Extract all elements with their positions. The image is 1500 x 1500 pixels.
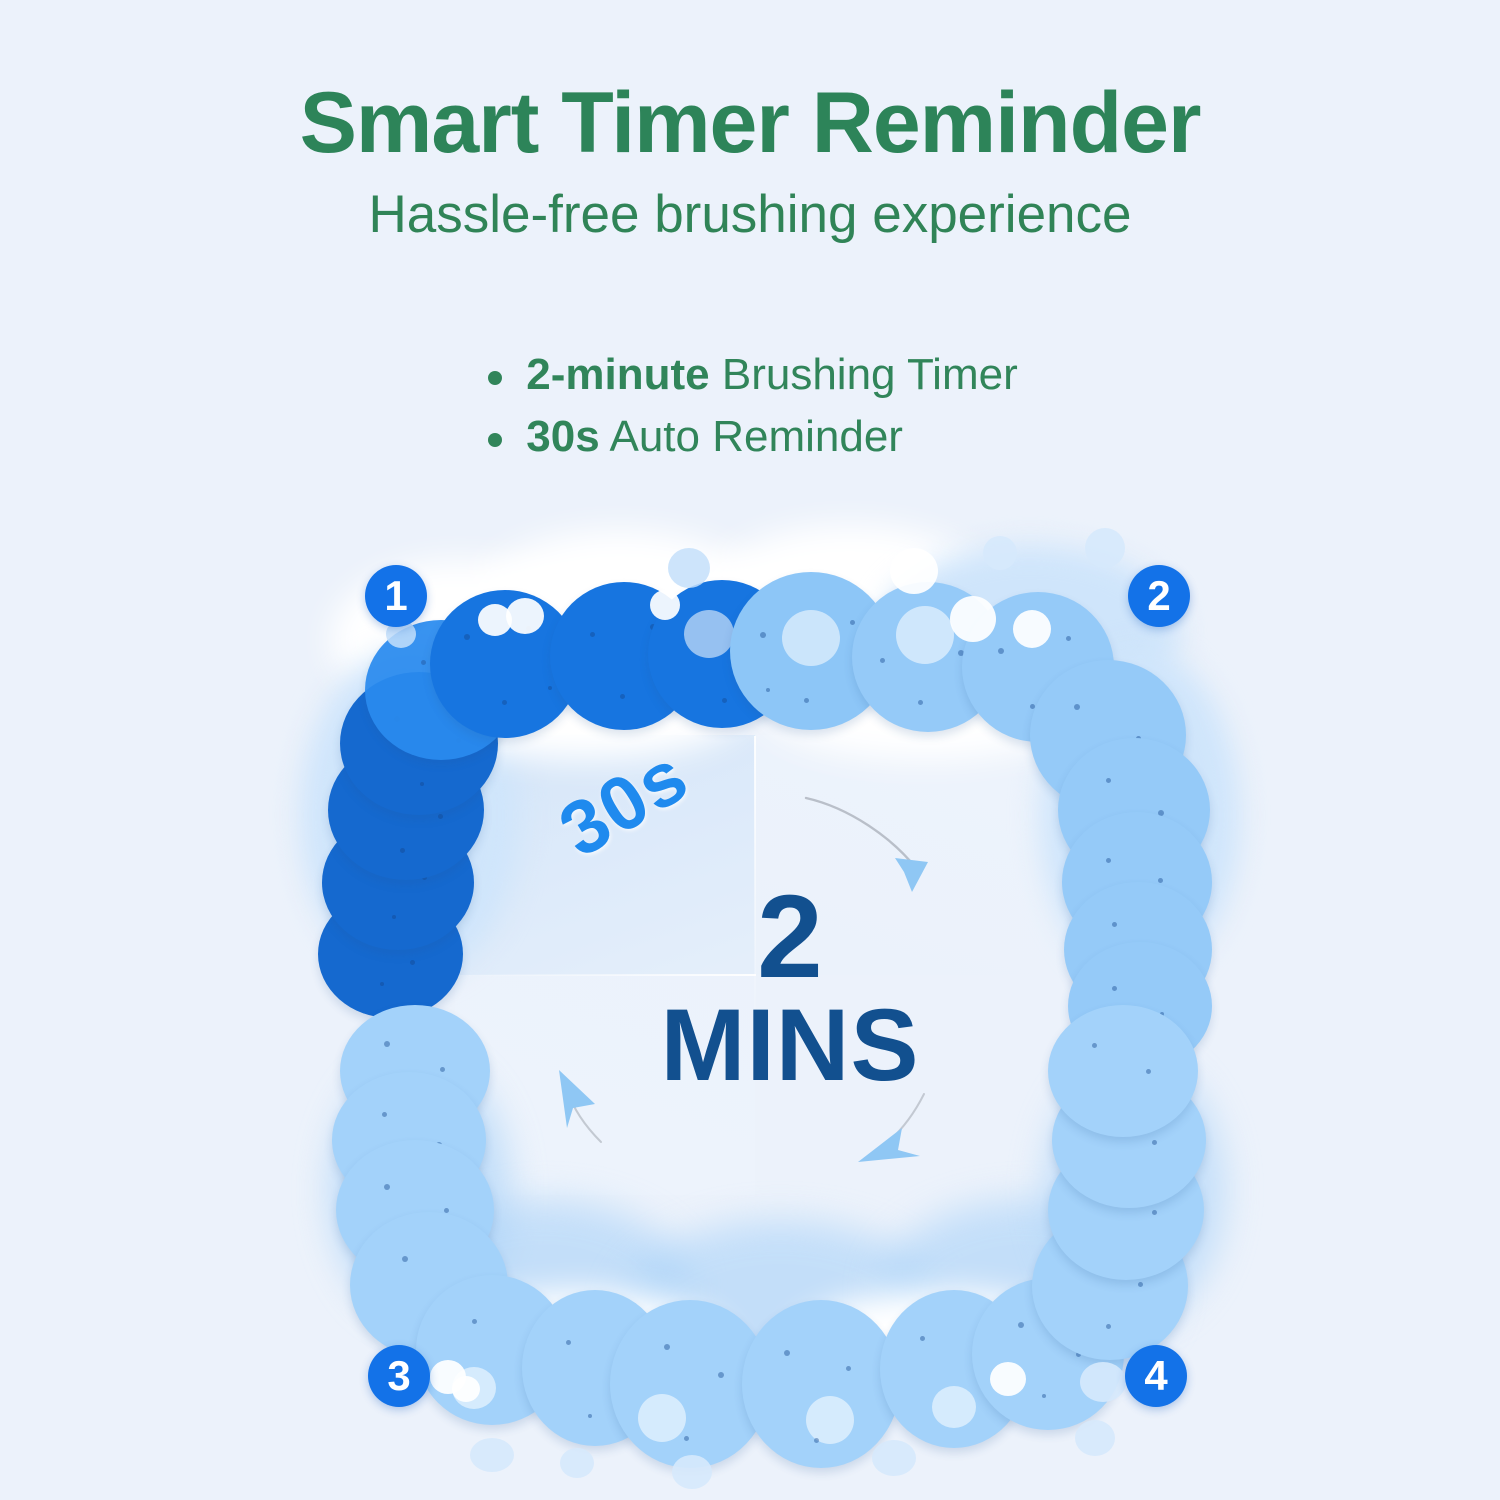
quadrant-badge-4[interactable]: 4: [1125, 1345, 1187, 1407]
bubble: [668, 548, 710, 588]
bubble: [1075, 1420, 1115, 1456]
list-item: 2-minute Brushing Timer: [482, 344, 1017, 406]
quadrant-badge-3[interactable]: 3: [368, 1345, 430, 1407]
bubble: [890, 548, 938, 594]
cycle-arrow-bottom-right-icon: [840, 1088, 960, 1208]
tooth: [1048, 1005, 1198, 1137]
tooth: [742, 1300, 900, 1468]
dental-arch-illustration: 30s 2 MINS 1 2 3 4: [0, 500, 1500, 1500]
page-title: Smart Timer Reminder: [0, 78, 1500, 168]
interval-label: 30s: [545, 732, 704, 875]
bubble: [506, 598, 544, 634]
feature-text: Brushing Timer: [710, 350, 1018, 399]
feature-text: Auto Reminder: [600, 412, 903, 461]
quadrant-badge-2[interactable]: 2: [1128, 565, 1190, 627]
bubble: [1013, 610, 1051, 648]
bubble: [983, 536, 1017, 570]
bubble: [470, 1438, 514, 1472]
feature-bullets: 2-minute Brushing Timer 30s Auto Reminde…: [0, 344, 1500, 469]
feature-highlight: 2-minute: [526, 350, 709, 399]
quadrant-badge-1[interactable]: 1: [365, 565, 427, 627]
bubble: [650, 590, 680, 620]
duration-number: 2: [590, 880, 990, 996]
bubble: [990, 1362, 1026, 1396]
bubble: [950, 596, 996, 642]
feature-list: 2-minute Brushing Timer 30s Auto Reminde…: [482, 344, 1017, 469]
duration-label: 2 MINS: [590, 880, 990, 1096]
duration-unit: MINS: [590, 996, 990, 1096]
bubble: [672, 1455, 712, 1489]
bubble: [872, 1440, 916, 1476]
list-item: 30s Auto Reminder: [482, 406, 1017, 468]
header: Smart Timer Reminder Hassle-free brushin…: [0, 0, 1500, 245]
feature-highlight: 30s: [526, 412, 599, 461]
bubble: [560, 1448, 594, 1478]
page-subtitle: Hassle-free brushing experience: [0, 186, 1500, 244]
bubble: [1085, 528, 1125, 568]
bubble: [452, 1376, 480, 1402]
bubble: [1080, 1362, 1126, 1402]
